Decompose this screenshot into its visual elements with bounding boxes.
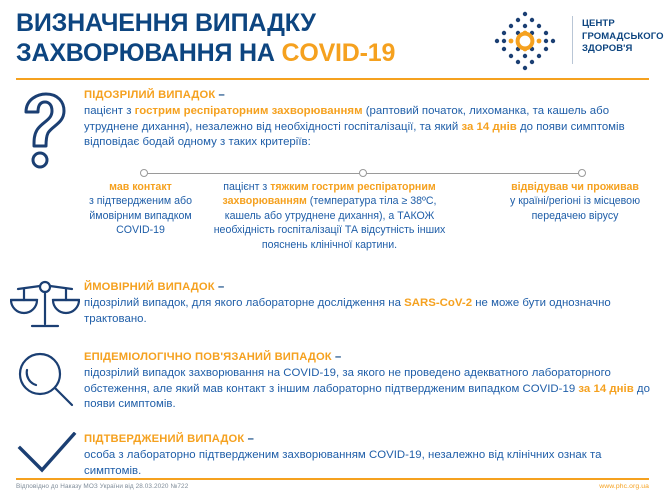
block-heading: ЕПІДЕМІОЛОГІЧНО ПОВ'ЯЗАНИЙ ВИПАДОК – xyxy=(84,350,656,365)
block-confirmed-case-body: ПІДТВЕРДЖЕНИЙ ВИПАДОК – особа з лаборато… xyxy=(84,432,656,479)
title-line-2-accent: COVID-19 xyxy=(281,39,395,67)
title-line-2-plain: ЗАХВОРЮВАННЯ НА xyxy=(16,39,281,67)
block-heading: ПІДОЗРІЛИЙ ВИПАДОК – xyxy=(84,88,656,103)
criterion-contact: мав контактз підтвердженим або ймовірним… xyxy=(84,180,197,238)
page-title: ВИЗНАЧЕННЯ ВИПАДКУ ЗАХВОРЮВАННЯ НА COVID… xyxy=(16,8,486,68)
infographic-page: ВИЗНАЧЕННЯ ВИПАДКУ ЗАХВОРЮВАННЯ НА COVID… xyxy=(0,0,665,499)
question-mark-icon xyxy=(14,90,74,170)
block-text: підозрілий випадок захворювання на COVID… xyxy=(84,366,656,413)
magnifier-icon xyxy=(14,350,80,408)
footer-source-note: Відповідно до Наказу МОЗ України від 28.… xyxy=(16,483,188,490)
checkmark-icon xyxy=(14,432,80,476)
footer-website-link[interactable]: www.phc.org.ua xyxy=(599,483,649,490)
block-text: пацієнт з гострим респіраторним захворюв… xyxy=(84,104,656,151)
logo-text: ЦЕНТР ГРОМАДСЬКОГО ЗДОРОВ'Я xyxy=(582,18,662,56)
scales-icon xyxy=(10,280,80,332)
connector-node-3 xyxy=(578,169,586,177)
criteria-connector xyxy=(140,169,586,179)
phc-dots-logo-icon xyxy=(488,10,562,72)
block-probable-case-body: ЙМОВІРНИЙ ВИПАДОК – підозрілий випадок, … xyxy=(84,280,656,327)
block-text: особа з лабораторно підтвердженим захвор… xyxy=(84,448,656,479)
header-rule xyxy=(16,78,649,80)
criterion-severe-ari: пацієнт з тяжким гострим респіраторним з… xyxy=(212,180,447,252)
criterion-travel: відвідував чи проживаву країні/регіоні і… xyxy=(500,180,650,223)
phc-logo: ЦЕНТР ГРОМАДСЬКОГО ЗДОРОВ'Я xyxy=(488,10,658,72)
footer-rule xyxy=(16,478,649,480)
connector-node-1 xyxy=(140,169,148,177)
block-suspected-case-body: ПІДОЗРІЛИЙ ВИПАДОК – пацієнт з гострим р… xyxy=(84,88,656,151)
block-text: підозрілий випадок, для якого лабораторн… xyxy=(84,296,656,327)
title-line-1: ВИЗНАЧЕННЯ ВИПАДКУ xyxy=(16,9,316,37)
connector-node-2 xyxy=(359,169,367,177)
block-epi-linked-case-body: ЕПІДЕМІОЛОГІЧНО ПОВ'ЯЗАНИЙ ВИПАДОК – під… xyxy=(84,350,656,413)
header: ВИЗНАЧЕННЯ ВИПАДКУ ЗАХВОРЮВАННЯ НА COVID… xyxy=(0,0,665,80)
logo-divider xyxy=(572,16,573,64)
block-heading: ЙМОВІРНИЙ ВИПАДОК – xyxy=(84,280,656,295)
block-heading: ПІДТВЕРДЖЕНИЙ ВИПАДОК – xyxy=(84,432,656,447)
